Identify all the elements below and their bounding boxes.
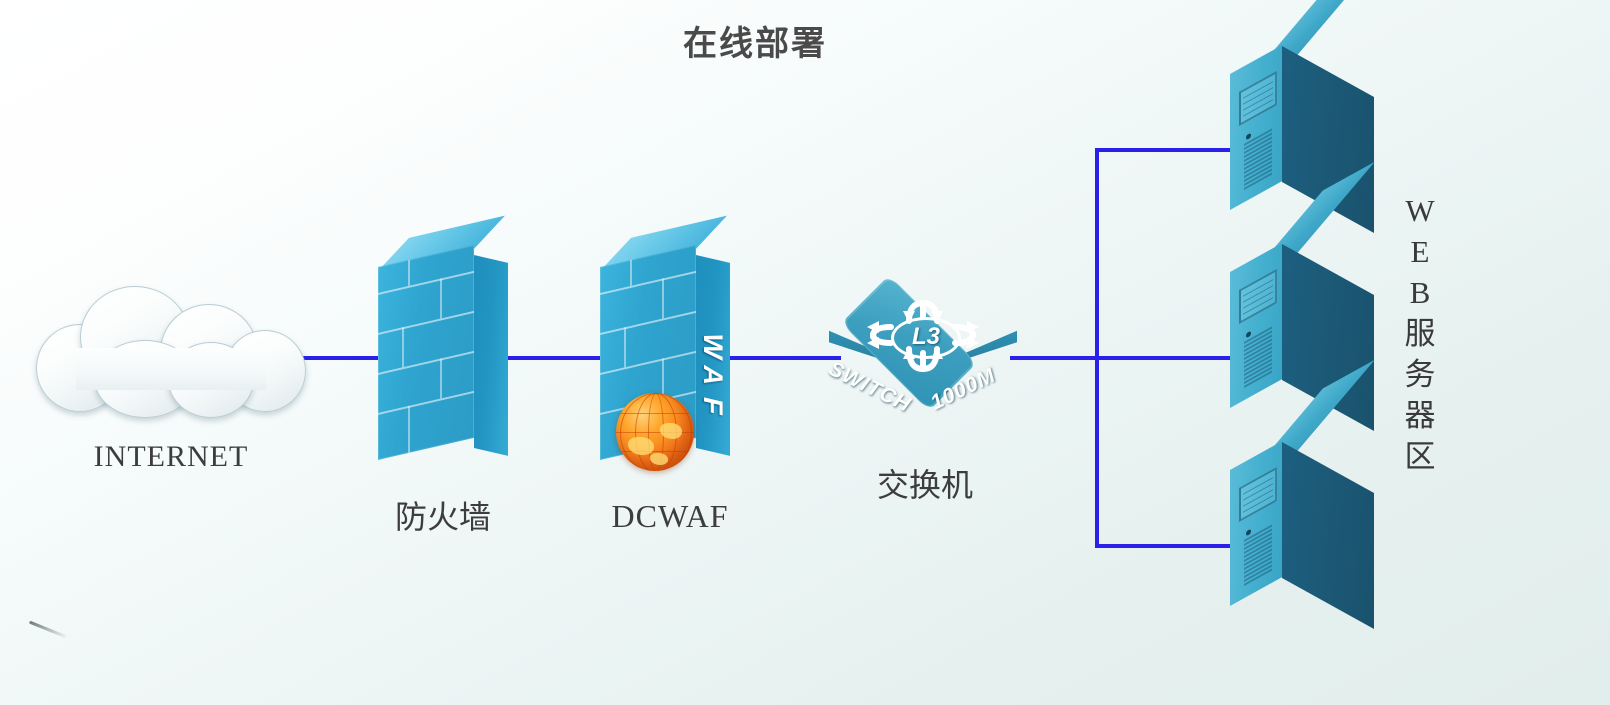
web-server-1[interactable] [1230,44,1378,222]
link-switch-bus [1010,356,1230,360]
link-bus-server-3 [1095,544,1230,548]
waf-label: DCWAF [580,498,760,535]
waf-side-letters: W A F [698,328,728,425]
web-zone-char-7: 区 [1396,436,1444,477]
stray-pen-mark [29,621,67,639]
server-bus-vertical [1095,148,1099,548]
web-zone-char-2: E [1396,231,1444,272]
globe-icon [616,393,694,471]
network-diagram-canvas: 在线部署 INTERNET [0,0,1610,705]
internet-cloud[interactable] [36,282,306,417]
web-zone-char-1: W [1396,190,1444,231]
switch-l3-badge: L3 [891,317,961,359]
page-title-text: 在线部署 [683,16,827,65]
web-server-2[interactable] [1230,242,1378,420]
web-zone-char-5: 务 [1396,354,1444,395]
firewall-node[interactable] [378,245,508,460]
web-server-zone-label: W E B 服 务 器 区 [1396,190,1444,477]
link-firewall-waf [508,356,613,360]
internet-label: INTERNET [36,440,306,474]
web-zone-char-4: 服 [1396,313,1444,354]
waf-node[interactable]: W A F [600,245,730,460]
web-server-3[interactable] [1230,440,1378,618]
switch-label: 交换机 [840,460,1010,506]
switch-node[interactable]: L3 SWITCH 1000M [823,281,1023,421]
web-zone-char-3: B [1396,272,1444,313]
link-bus-server-1 [1095,148,1230,152]
firewall-label: 防火墙 [358,492,528,538]
web-zone-char-6: 器 [1396,395,1444,436]
